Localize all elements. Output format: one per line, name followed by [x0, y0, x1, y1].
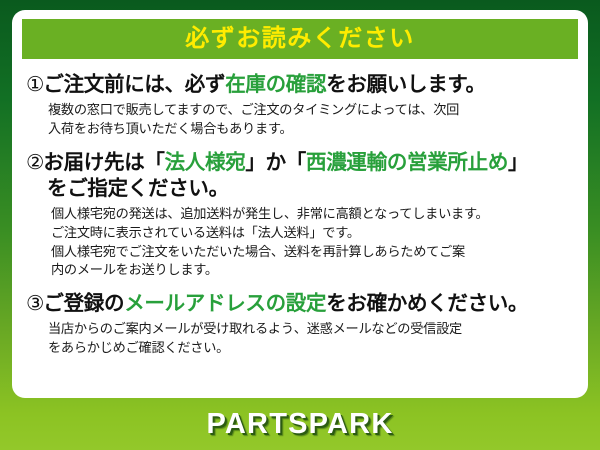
notice-poster: 必ずお読みください ①ご注文前には、必ず在庫の確認をお願いします。 複数の窓口で… — [0, 0, 600, 450]
notice-item-2-text-a: お届け先は「 — [43, 151, 164, 174]
notice-item-2-text-c: 」 — [508, 151, 528, 174]
notice-item-2-subline-3: 個人様宅宛でご注文をいただいた場合、送料を再計算しあらためてご案 — [51, 243, 574, 262]
notice-item-1-text-b: をお願いします。 — [326, 73, 486, 96]
notice-item-3: ③ご登録のメールアドレスの設定をお確かめください。 当店からのご案内メールが受け… — [26, 291, 574, 358]
notice-item-3-subtext: 当店からのご案内メールが受け取れるよう、迷惑メールなどの受信設定 をあらかじめご… — [26, 320, 574, 357]
notice-item-2-marker: ② — [26, 151, 43, 174]
notice-item-2-text-highlight-1: 法人様宛 — [165, 151, 246, 174]
notice-item-1-subline-2: 入荷をお待ち頂いただく場合もあります。 — [48, 120, 574, 139]
notice-item-2-subline-4: 内のメールをお送りします。 — [51, 261, 574, 280]
notice-item-3-headline: ③ご登録のメールアドレスの設定をお確かめください。 — [26, 291, 574, 317]
footer-logo-bar: PARTSPARK — [0, 398, 600, 450]
notice-item-2-text-d: をご指定ください。 — [47, 177, 229, 200]
notice-item-1-text-a: ご注文前には、必ず — [43, 73, 225, 96]
notice-item-3-subline-1: 当店からのご案内メールが受け取れるよう、迷惑メールなどの受信設定 — [48, 320, 574, 339]
notice-item-1-headline: ①ご注文前には、必ず在庫の確認をお願いします。 — [26, 72, 574, 98]
notice-items-list: ①ご注文前には、必ず在庫の確認をお願いします。 複数の窓口で販売してますので、ご… — [22, 72, 578, 358]
notice-item-2-headline-line2: をご指定ください。 — [26, 176, 574, 202]
notice-item-2-headline: ②お届け先は「法人様宛」か「西濃運輸の営業所止め」 — [26, 150, 574, 176]
notice-item-1-text-highlight: 在庫の確認 — [225, 73, 326, 96]
notice-item-2: ②お届け先は「法人様宛」か「西濃運輸の営業所止め」 をご指定ください。 個人様宅… — [26, 150, 574, 280]
notice-item-1: ①ご注文前には、必ず在庫の確認をお願いします。 複数の窓口で販売してますので、ご… — [26, 72, 574, 139]
notice-item-3-subline-2: をあらかじめご確認ください。 — [48, 339, 574, 358]
partspark-logo: PARTSPARK — [207, 410, 394, 439]
notice-item-3-text-b: をお確かめください。 — [326, 292, 528, 315]
notice-item-3-text-a: ご登録の — [43, 292, 124, 315]
notice-item-1-subtext: 複数の窓口で販売してますので、ご注文のタイミングによっては、次回 入荷をお待ち頂… — [26, 101, 574, 138]
notice-item-2-text-highlight-2: 西濃運輸の営業所止め — [306, 151, 508, 174]
notice-item-1-subline-1: 複数の窓口で販売してますので、ご注文のタイミングによっては、次回 — [48, 101, 574, 120]
notice-item-3-marker: ③ — [26, 292, 43, 315]
notice-item-3-text-highlight: メールアドレスの設定 — [124, 292, 326, 315]
notice-card: 必ずお読みください ①ご注文前には、必ず在庫の確認をお願いします。 複数の窓口で… — [12, 10, 588, 398]
notice-item-2-subline-2: ご注文時に表示されている送料は「法人送料」です。 — [51, 224, 574, 243]
notice-item-2-text-b: 」か「 — [245, 151, 306, 174]
banner-title: 必ずお読みください — [185, 27, 415, 51]
notice-item-2-subtext: 個人様宅宛の発送は、追加送料が発生し、非常に高額となってしまいます。 ご注文時に… — [26, 205, 574, 280]
notice-item-2-subline-1: 個人様宅宛の発送は、追加送料が発生し、非常に高額となってしまいます。 — [51, 205, 574, 224]
notice-item-1-marker: ① — [26, 73, 43, 96]
notice-banner: 必ずお読みください — [22, 19, 578, 59]
